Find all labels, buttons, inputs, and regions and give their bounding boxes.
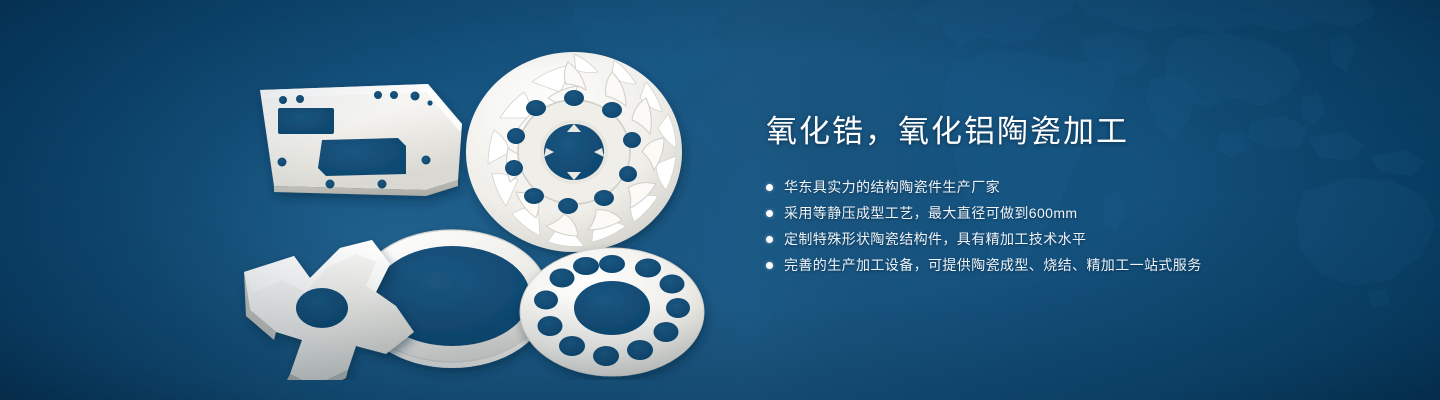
list-item: 华东具实力的结构陶瓷件生产厂家: [766, 176, 1386, 198]
bullet-dot-icon: [766, 262, 773, 269]
feature-list: 华东具实力的结构陶瓷件生产厂家 采用等静压成型工艺，最大直径可做到600mm 定…: [766, 176, 1386, 276]
list-item: 完善的生产加工设备，可提供陶瓷成型、烧结、精加工一站式服务: [766, 254, 1386, 276]
list-item: 定制特殊形状陶瓷结构件，具有精加工技术水平: [766, 228, 1386, 250]
bullet-dot-icon: [766, 210, 773, 217]
list-item: 采用等静压成型工艺，最大直径可做到600mm: [766, 202, 1386, 224]
headline: 氧化锆，氧化铝陶瓷加工: [766, 112, 1386, 152]
feature-text: 华东具实力的结构陶瓷件生产厂家: [784, 176, 1000, 198]
bullet-dot-icon: [766, 184, 773, 191]
hero-banner: 氧化锆，氧化铝陶瓷加工 华东具实力的结构陶瓷件生产厂家 采用等静压成型工艺，最大…: [0, 0, 1440, 400]
feature-text: 定制特殊形状陶瓷结构件，具有精加工技术水平: [784, 228, 1086, 250]
feature-text: 完善的生产加工设备，可提供陶瓷成型、烧结、精加工一站式服务: [784, 254, 1202, 276]
banner-copy: 氧化锆，氧化铝陶瓷加工 华东具实力的结构陶瓷件生产厂家 采用等静压成型工艺，最大…: [766, 112, 1386, 292]
feature-text: 采用等静压成型工艺，最大直径可做到600mm: [784, 202, 1077, 224]
bullet-dot-icon: [766, 236, 773, 243]
